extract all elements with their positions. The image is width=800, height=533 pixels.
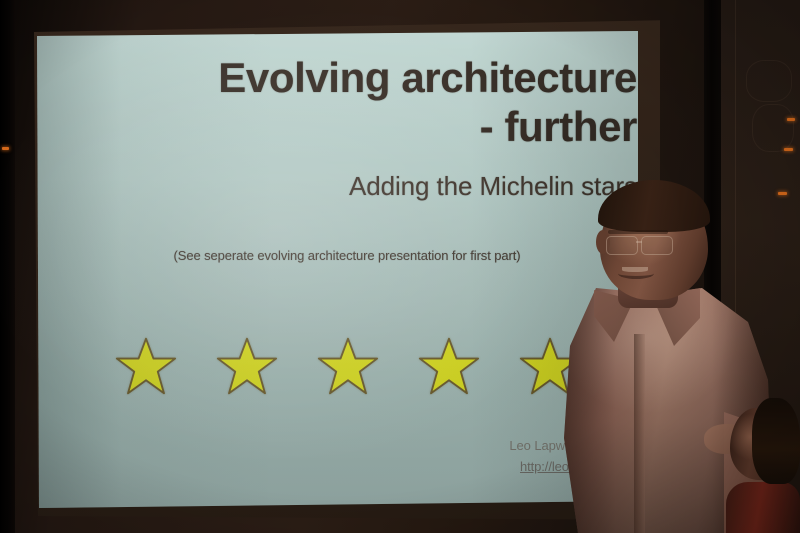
slide-title-line-2: - further [57, 102, 637, 151]
photo-scene: Evolving architecture - further Adding t… [0, 0, 800, 533]
presenter-brow [608, 230, 668, 234]
presenter-hair [598, 180, 710, 232]
star-icon [115, 335, 177, 397]
star-icon [418, 335, 480, 397]
presenter-smile [618, 268, 654, 279]
glasses-lens-left-icon [606, 236, 638, 255]
wall-marking [752, 104, 794, 152]
audience-member-shoulder [726, 482, 800, 533]
audience-member [726, 398, 800, 533]
ambient-light-speck [2, 147, 9, 150]
slide-content: Evolving architecture - further Adding t… [37, 31, 638, 509]
glasses-bridge-icon [636, 241, 642, 243]
ambient-light-speck [787, 118, 795, 121]
slide-title-line-1: Evolving architecture [57, 53, 637, 102]
room-left-dark-band [0, 0, 15, 533]
slide-credit-url: http://leo.cuckoo.org [57, 456, 635, 477]
wall-marking [746, 60, 792, 102]
slide-note: (See seperate evolving architecture pres… [57, 248, 637, 263]
audience-member-hair [752, 398, 800, 484]
projection-screen: Evolving architecture - further Adding t… [37, 31, 638, 509]
ambient-light-speck [784, 148, 793, 151]
star-icon [317, 335, 379, 397]
star-icon [216, 335, 278, 397]
slide-credit-author: Leo Lapworth @ LPW [57, 435, 635, 456]
slide-credit: Leo Lapworth @ LPW http://leo.cuckoo.org [57, 435, 635, 477]
slide-subtitle: Adding the Michelin stars [57, 171, 637, 202]
glasses-lens-right-icon [641, 236, 673, 255]
slide-title: Evolving architecture - further [57, 53, 637, 151]
presenter-shirt-placket [634, 334, 645, 533]
